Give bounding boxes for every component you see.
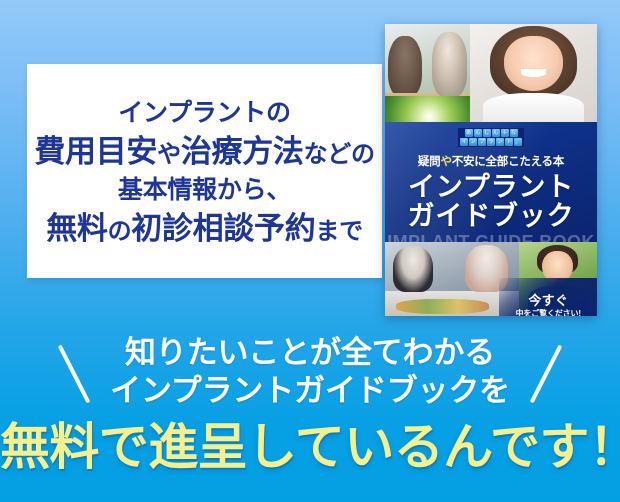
book-subtitle-c: に全部こたえる本 [474,156,564,168]
book-subtitle-accent: や [440,156,451,168]
woman-smile [521,69,546,77]
badge-key: な [510,129,518,137]
photo-smiling-woman [470,24,597,122]
card-line-2-strong: 費用目安 [34,134,157,169]
badge-row-1: あ ん し ん ＋ な [460,129,522,137]
book-title-line-2: ガイドブック [385,202,597,231]
badge-key: ん [492,129,500,137]
badge-key: ＋ [501,129,509,137]
card-line-4: 無料の初診相談予約まで [46,209,363,249]
card-line-2: 費用目安や治療方法などの [34,132,374,172]
woman-face [504,36,563,91]
book-title-line-1: インプラント [385,173,597,202]
badge-key: ン [496,138,504,146]
card-line-3: 基本情報から、 [118,174,291,207]
badge-key: ん [474,129,482,137]
corner-callout-line-2: 中をご覧ください! [499,310,597,316]
headline-yellow-emphasis: 無料で進呈しているんです！ [0,420,620,474]
card-line-2-small: や [157,141,181,168]
card-line-2-tail: などの [304,141,375,168]
info-card: インプラントの 費用目安や治療方法などの 基本情報から、 無料の初診相談予約まで [27,64,382,278]
badge-key: プ [478,138,486,146]
badge-key: し [483,129,491,137]
anshin-implant-badge: あ ん し ん ＋ な イ ン プ ラ ン ト 。 [458,128,524,147]
headline-line-1: 知りたいことが全てわかる [0,324,620,372]
elders-food-spread [396,299,489,314]
book-bottom-photo-strip: 今すぐ 中をご覧ください! [385,242,597,316]
badge-key: イ [460,138,468,146]
card-line-2-strong2: 治療方法 [181,134,304,169]
badge-key: ン [469,138,477,146]
card-line-4-tail: まで [315,218,362,245]
card-line-4-strong: 無料 [46,211,107,246]
card-line-4-small: の [108,218,132,245]
badge-row-2: イ ン プ ラ ン ト 。 [460,138,522,146]
woman-torso [483,93,585,122]
guidebook-cover-image[interactable]: あ ん し ん ＋ な イ ン プ ラ ン ト 。 疑問や不安に全部こたえる本 [385,24,597,316]
card-line-1: インプラントの [118,97,291,130]
book-subtitle: 疑問や不安に全部こたえる本 [385,153,597,169]
book-title-block: あ ん し ん ＋ な イ ン プ ラ ン ト 。 疑問や不安に全部こたえる本 [385,122,597,242]
lower-headline-section: 知りたいことが全てわかる インプラントガイドブックを 無料で進呈しているんです！ [0,324,620,502]
elder-woman-left [393,246,433,292]
badge-key: あ [465,129,473,137]
promo-banner: インプラントの 費用目安や治療方法などの 基本情報から、 無料の初診相談予約まで [0,0,620,502]
book-corner-callout: 今すぐ 中をご覧ください! [499,278,597,316]
badge-key: ト [505,138,513,146]
badge-key: 。 [514,138,522,146]
book-subtitle-b: 不安 [452,156,475,168]
card-line-4-strong2: 初診相談予約 [131,211,315,246]
corner-callout-line-1: 今すぐ [499,294,597,307]
book-subtitle-a: 疑問 [418,156,441,168]
badge-key: ラ [487,138,495,146]
headline-line-2: インプラントガイドブックを [0,372,620,410]
